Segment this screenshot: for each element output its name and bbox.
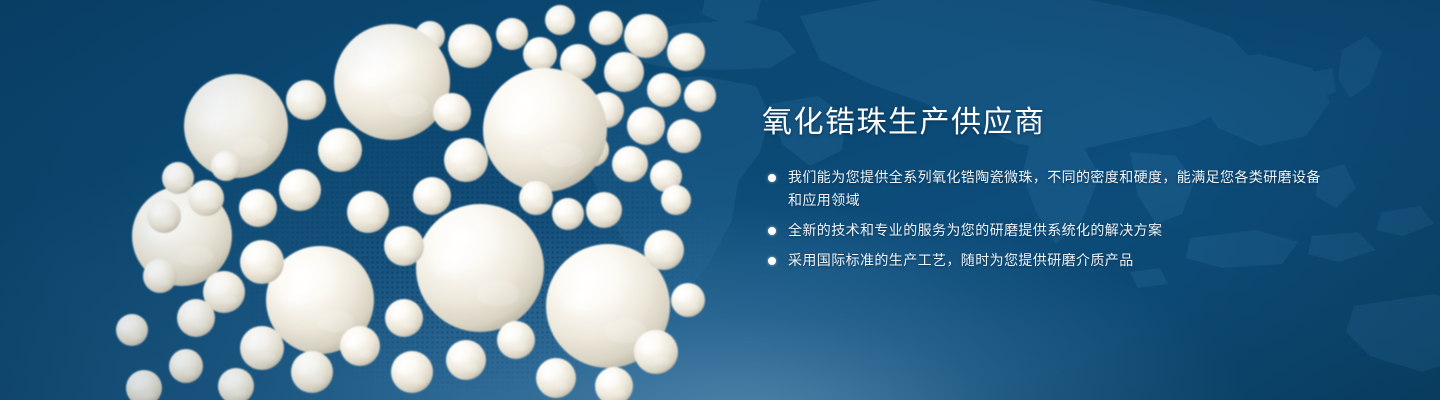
- banner-copy-block: 氧化锆珠生产供应商 我们能为您提供全系列氧化锆陶瓷微珠，不同的密度和硬度，能满足…: [762, 106, 1322, 272]
- bullet-dot-icon: [768, 227, 776, 235]
- bullet-dot-icon: [768, 174, 776, 182]
- bullet-text: 全新的技术和专业的服务为您的研磨提供系统化的解决方案: [788, 222, 1162, 238]
- list-item: 全新的技术和专业的服务为您的研磨提供系统化的解决方案: [762, 219, 1322, 242]
- banner-headline: 氧化锆珠生产供应商: [762, 106, 1322, 140]
- list-item: 我们能为您提供全系列氧化锆陶瓷微珠，不同的密度和硬度，能满足您各类研磨设备和应用…: [762, 166, 1322, 212]
- hero-banner: 氧化锆珠生产供应商 我们能为您提供全系列氧化锆陶瓷微珠，不同的密度和硬度，能满足…: [0, 0, 1440, 400]
- list-item: 采用国际标准的生产工艺，随时为您提供研磨介质产品: [762, 249, 1322, 272]
- bullet-text: 我们能为您提供全系列氧化锆陶瓷微珠，不同的密度和硬度，能满足您各类研磨设备和应用…: [788, 169, 1321, 208]
- bullet-text: 采用国际标准的生产工艺，随时为您提供研磨介质产品: [788, 252, 1134, 268]
- banner-feature-list: 我们能为您提供全系列氧化锆陶瓷微珠，不同的密度和硬度，能满足您各类研磨设备和应用…: [762, 166, 1322, 272]
- bullet-dot-icon: [768, 257, 776, 265]
